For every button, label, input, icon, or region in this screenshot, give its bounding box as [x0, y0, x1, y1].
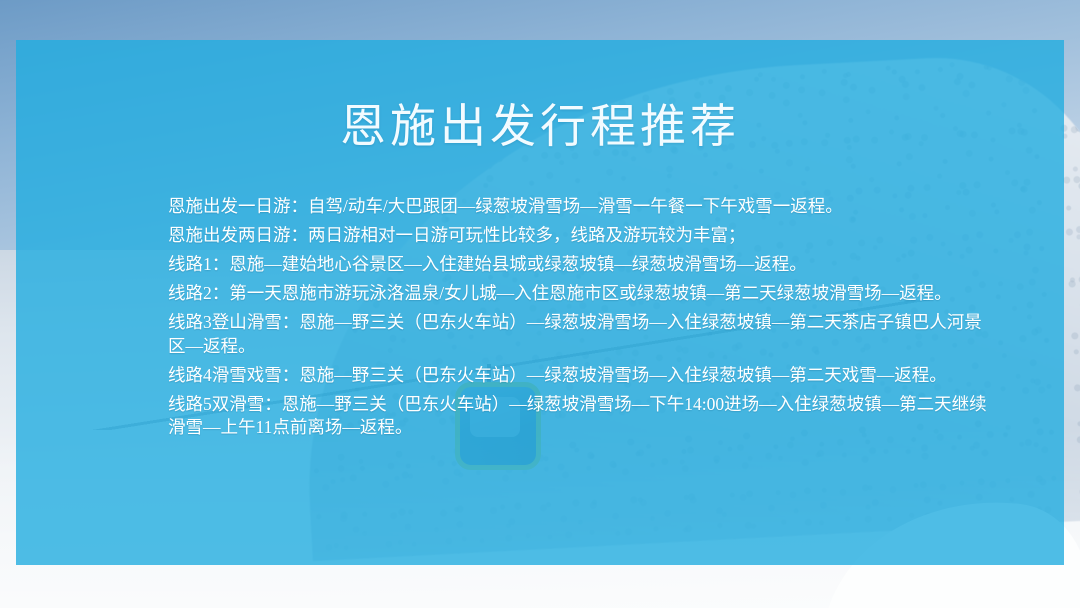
itinerary-line: 线路1：恩施—建始地心谷景区—入住建始县城或绿葱坡镇—绿葱坡滑雪场—返程。	[168, 253, 988, 277]
itinerary-line: 线路5双滑雪：恩施—野三关（巴东火车站）—绿葱坡滑雪场—下午14:00进场—入住…	[168, 393, 988, 440]
itinerary-line: 线路4滑雪戏雪：恩施—野三关（巴东火车站）—绿葱坡滑雪场—入住绿葱坡镇—第二天戏…	[168, 364, 988, 388]
presentation-slide: 恩施出发行程推荐 恩施出发一日游：自驾/动车/大巴跟团—绿葱坡滑雪场—滑雪一午餐…	[0, 0, 1080, 608]
itinerary-text-block: 恩施出发一日游：自驾/动车/大巴跟团—绿葱坡滑雪场—滑雪一午餐一下午戏雪一返程。…	[168, 195, 988, 440]
itinerary-line: 恩施出发一日游：自驾/动车/大巴跟团—绿葱坡滑雪场—滑雪一午餐一下午戏雪一返程。	[168, 195, 988, 219]
page-title: 恩施出发行程推荐	[16, 90, 1064, 156]
itinerary-line: 线路3登山滑雪：恩施—野三关（巴东火车站）—绿葱坡滑雪场—入住绿葱坡镇—第二天茶…	[168, 311, 988, 358]
slide-content: 恩施出发行程推荐 恩施出发一日游：自驾/动车/大巴跟团—绿葱坡滑雪场—滑雪一午餐…	[16, 40, 1064, 565]
itinerary-line: 恩施出发两日游：两日游相对一日游可玩性比较多，线路及游玩较为丰富；	[168, 224, 988, 248]
itinerary-line: 线路2：第一天恩施市游玩泳洛温泉/女儿城—入住恩施市区或绿葱坡镇—第二天绿葱坡滑…	[168, 282, 988, 306]
